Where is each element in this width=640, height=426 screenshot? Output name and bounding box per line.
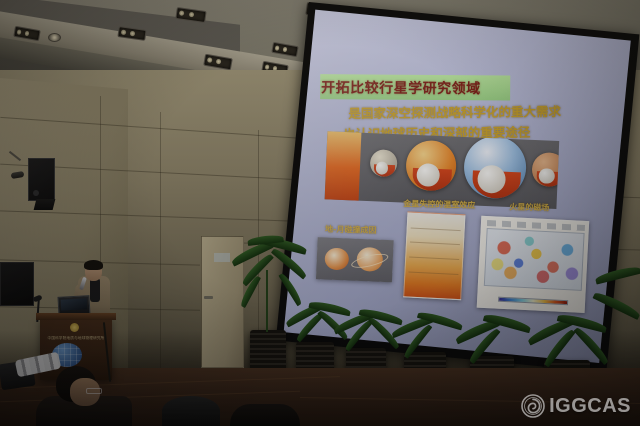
institution-emblem-icon <box>70 323 79 332</box>
sun-image <box>325 131 362 209</box>
wall-speaker <box>28 158 55 201</box>
figure-caption-mars-magnetic: 火星的磁场 <box>509 201 549 213</box>
palm-stem <box>266 270 268 332</box>
slide-title: 开拓比较行星学研究领域 <box>321 77 536 99</box>
figure-caption-moon-origin: 地-月碰撞成因 <box>325 224 377 236</box>
wall-monitor <box>0 262 34 306</box>
audience-member-silhouette <box>230 404 300 426</box>
laptop-screen <box>61 298 88 310</box>
figure-moon-origin <box>316 237 394 282</box>
speaker-hair <box>84 260 103 270</box>
podium-banner-text: 中国科学院地质与地球物理研究所 <box>44 336 108 341</box>
planet-earth <box>463 135 528 200</box>
audience-member-cap <box>162 396 220 426</box>
planet-venus <box>405 140 457 192</box>
planet-mars <box>531 152 559 187</box>
mars-color-scale <box>498 297 568 306</box>
podium-top-surface <box>36 313 116 320</box>
photo-scene: 开拓比较行星学研究领域 是国家深空探测战略科学化的重大需求 也认识地球历史和深部… <box>0 0 640 426</box>
planet-comparison-figure <box>325 131 560 209</box>
speaker-shirt <box>90 278 100 302</box>
figure-caption-venus-greenhouse: 金星失控的温室效应 <box>403 198 475 211</box>
wall-speaker-base <box>34 199 56 210</box>
mars-magnetic-map <box>484 228 585 291</box>
door-sign <box>214 253 230 262</box>
figure-mars-magnetic-field <box>477 216 590 313</box>
eyeglasses-icon <box>86 388 102 394</box>
planet-mercury <box>370 149 398 177</box>
slide-subtitle-line1: 是国家深空探测战略科学化的重大需求 <box>348 101 561 122</box>
figure-venus-greenhouse <box>403 211 465 300</box>
door-handle[interactable] <box>204 296 213 299</box>
downlight-icon <box>48 33 61 42</box>
